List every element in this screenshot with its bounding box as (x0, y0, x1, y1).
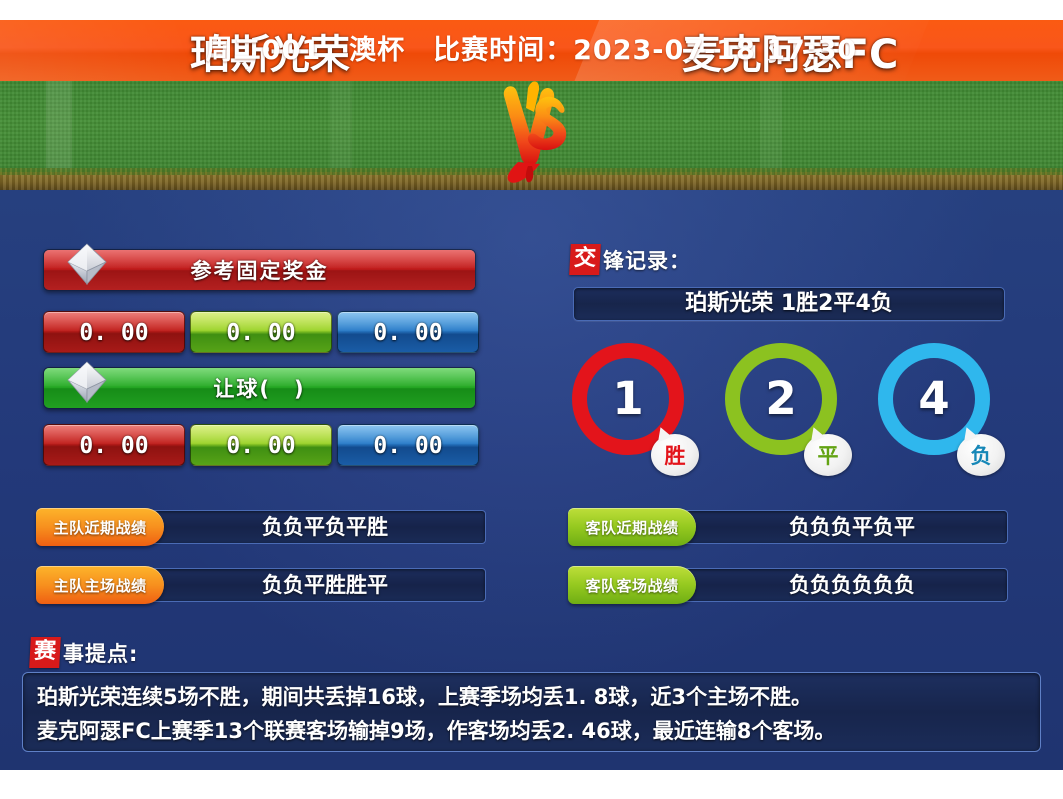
away-away-form-bar: 负负负负负负 (671, 568, 1008, 602)
home-home-form-value: 负负平胜胜平 (140, 569, 485, 601)
home-home-form-label: 主队主场战绩 (36, 566, 164, 604)
away-recent-form-bar: 负负负平负平 (671, 510, 1008, 544)
head-to-head-section-label: 锋记录： (603, 245, 691, 275)
head-to-head-glyph: 交 (569, 244, 601, 275)
diamond-icon (64, 241, 110, 287)
analysis-line-1: 珀斯光荣连续5场不胜，期间共丢掉16球，上赛季场均丢1. 8球，近3个主场不胜。 (37, 680, 1026, 714)
away-recent-form-value: 负负负平负平 (672, 511, 1007, 543)
handicap-odd-home-value: 0. 00 (44, 425, 184, 466)
h2h-badge-win: 胜 (651, 434, 699, 476)
bottom-white-strip (0, 770, 1063, 799)
h2h-ring-draw-count: 2 (765, 372, 796, 425)
handicap-odd-away[interactable]: 0. 00 (337, 424, 479, 466)
away-away-form-value: 负负负负负负 (672, 569, 1007, 601)
away-recent-form-label: 客队近期战绩 (568, 508, 696, 546)
fixed-prize-odd-draw-value: 0. 00 (191, 312, 331, 353)
analysis-text-box: 珀斯光荣连续5场不胜，期间共丢掉16球，上赛季场均丢1. 8球，近3个主场不胜。… (22, 672, 1041, 752)
away-away-form-label: 客队客场战绩 (568, 566, 696, 604)
away-away-form-row: 客队客场战绩 负负负负负负 (568, 566, 1008, 604)
handicap-odd-home[interactable]: 0. 00 (43, 424, 185, 466)
analysis-glyph: 赛 (29, 637, 61, 668)
handicap-header: 让球( ) (43, 367, 476, 409)
match-header-bar: 周二001 澳杯 比赛时间：2023-07-18 17:30 (0, 20, 1063, 81)
handicap-odd-draw-value: 0. 00 (191, 425, 331, 466)
h2h-ring-win-count: 1 (612, 372, 643, 425)
match-preview-card: 周二001 澳杯 比赛时间：2023-07-18 17:30 珀斯光荣 麦克阿瑟… (0, 0, 1063, 799)
h2h-badge-loss: 负 (957, 434, 1005, 476)
analysis-line-2: 麦克阿瑟FC上赛季13个联赛客场输掉9场，作客场均丢2. 46球，最近连输8个客… (37, 714, 1026, 748)
away-recent-form-row: 客队近期战绩 负负负平负平 (568, 508, 1008, 546)
home-recent-form-row: 主队近期战绩 负负平负平胜 (36, 508, 486, 546)
vs-icon (484, 78, 584, 188)
analysis-section-header: 赛 事提点: (30, 637, 138, 668)
home-home-form-bar: 负负平胜胜平 (139, 568, 486, 602)
home-home-form-row: 主队主场战绩 负负平胜胜平 (36, 566, 486, 604)
h2h-ring-loss-count: 4 (918, 372, 949, 425)
match-header-title: 周二001 澳杯 比赛时间：2023-07-18 17:30 (0, 20, 1063, 81)
home-recent-form-bar: 负负平负平胜 (139, 510, 486, 544)
h2h-badge-draw: 平 (804, 434, 852, 476)
fixed-prize-odd-away[interactable]: 0. 00 (337, 311, 479, 353)
head-to-head-section-header: 交 锋记录： (570, 244, 691, 275)
fixed-prize-odd-away-value: 0. 00 (338, 312, 478, 353)
handicap-odd-away-value: 0. 00 (338, 425, 478, 466)
analysis-section-label: 事提点: (63, 638, 138, 668)
head-to-head-summary-text: 珀斯光荣 1胜2平4负 (574, 288, 1004, 320)
fixed-prize-odd-home-value: 0. 00 (44, 312, 184, 353)
handicap-odd-draw[interactable]: 0. 00 (190, 424, 332, 466)
diamond-icon (64, 359, 110, 405)
fixed-prize-odd-home[interactable]: 0. 00 (43, 311, 185, 353)
home-recent-form-value: 负负平负平胜 (140, 511, 485, 543)
fixed-prize-header: 参考固定奖金 (43, 249, 476, 291)
home-recent-form-label: 主队近期战绩 (36, 508, 164, 546)
fixed-prize-odd-draw[interactable]: 0. 00 (190, 311, 332, 353)
head-to-head-summary-bar: 珀斯光荣 1胜2平4负 (573, 287, 1005, 321)
